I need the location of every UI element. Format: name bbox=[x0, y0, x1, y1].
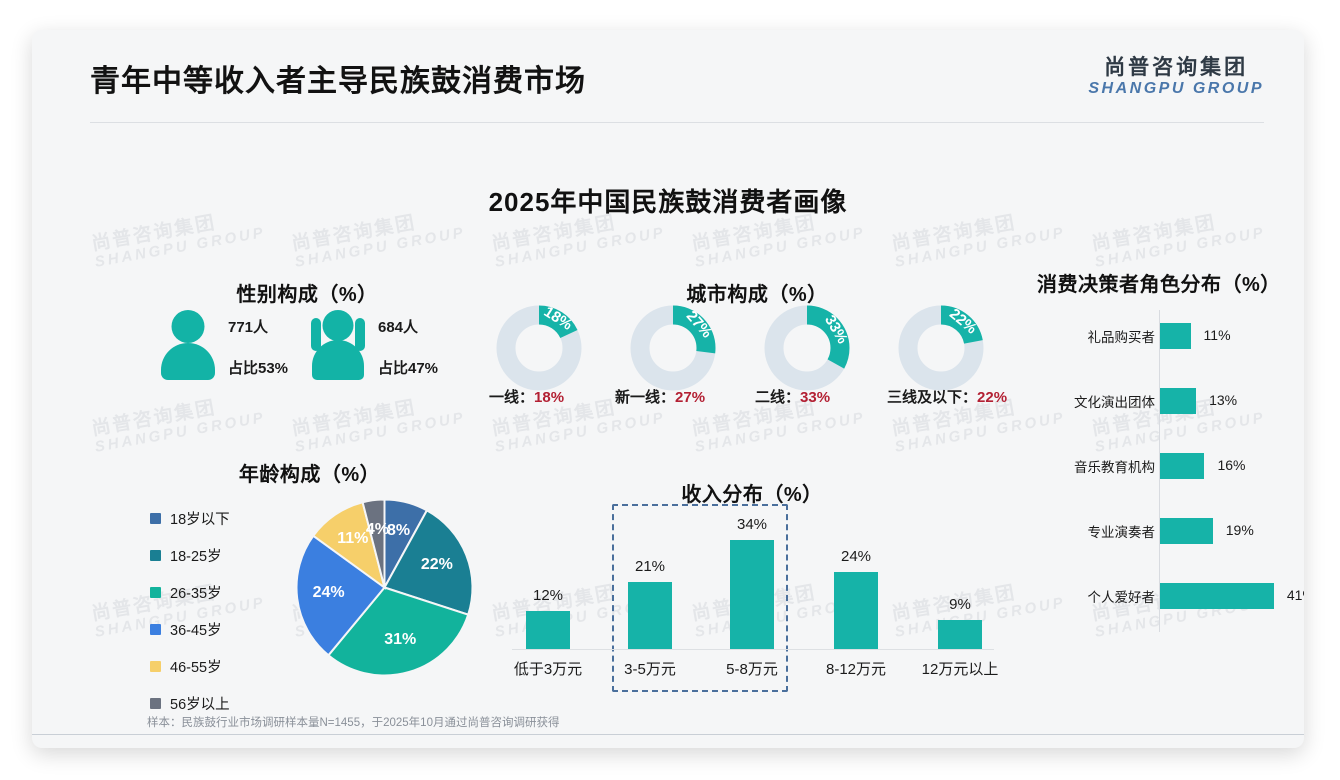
income-distribution-section: 12%21%34%24%9% 低于3万元3-5万元5-8万元8-12万元12万元… bbox=[502, 470, 1002, 695]
city-value-4: 22% bbox=[977, 389, 1007, 406]
role-label-2: 文化演出团体 bbox=[1074, 391, 1155, 411]
age-legend-item: 46-55岁 bbox=[150, 656, 230, 677]
income-bar-value-5: 9% bbox=[925, 596, 995, 613]
watermark: 尚普咨询集团SHANGPU GROUP bbox=[290, 390, 467, 455]
gender-item-male: 771人 占比53% bbox=[160, 310, 288, 380]
city-value-3: 33% bbox=[800, 389, 830, 406]
role-label-5: 个人爱好者 bbox=[1088, 586, 1156, 606]
income-category-1: 低于3万元 bbox=[496, 658, 600, 679]
city-value-1: 18% bbox=[534, 389, 564, 406]
role-row: 文化演出团体13% bbox=[1037, 388, 1304, 414]
female-share: 占比47% bbox=[378, 357, 438, 378]
income-category-2: 3-5万元 bbox=[598, 658, 702, 679]
city-donut-4: 22% bbox=[895, 302, 987, 394]
male-share: 占比53% bbox=[228, 357, 288, 378]
income-bar-5 bbox=[938, 620, 982, 649]
age-pie-chart: 8%22%31%24%11%4% bbox=[292, 495, 477, 680]
income-category-5: 12万元以上 bbox=[908, 658, 1012, 679]
role-value-2: 13% bbox=[1209, 392, 1237, 408]
legend-swatch bbox=[150, 513, 161, 524]
legend-label: 18-25岁 bbox=[170, 545, 222, 566]
legend-label: 56岁以上 bbox=[170, 693, 230, 714]
city-donut-1: 18% bbox=[493, 302, 585, 394]
logo-chinese-text: 尚普咨询集团 bbox=[1088, 56, 1264, 79]
brand-logo: 尚普咨询集团 SHANGPU GROUP bbox=[1088, 56, 1264, 99]
role-value-4: 19% bbox=[1226, 522, 1254, 538]
role-row: 礼品购买者11% bbox=[1037, 323, 1304, 349]
legend-swatch bbox=[150, 587, 161, 598]
age-legend-item: 36-45岁 bbox=[150, 619, 230, 640]
income-bar-value-1: 12% bbox=[513, 587, 583, 604]
city-caption-1: 一线：18% bbox=[489, 386, 564, 407]
income-baseline bbox=[512, 649, 994, 650]
header: 青年中等收入者主导民族鼓消费市场 尚普咨询集团 SHANGPU GROUP bbox=[32, 30, 1304, 126]
age-legend-item: 18-25岁 bbox=[150, 545, 230, 566]
age-legend: 18岁以下18-25岁26-35岁36-45岁46-55岁56岁以上 bbox=[150, 508, 230, 730]
legend-label: 18岁以下 bbox=[170, 508, 230, 529]
city-caption-3: 二线：33% bbox=[755, 386, 830, 407]
role-bar-3 bbox=[1160, 453, 1204, 479]
chart-subtitle: 2025年中国民族鼓消费者画像 bbox=[32, 182, 1304, 219]
female-count: 684人 bbox=[378, 316, 438, 337]
city-caption-2: 新一线：27% bbox=[615, 386, 705, 407]
role-label-1: 礼品购买者 bbox=[1088, 326, 1156, 346]
income-bar-2 bbox=[628, 582, 672, 649]
footer-divider bbox=[32, 734, 1304, 735]
age-composition-section: 18岁以下18-25岁26-35岁36-45岁46-55岁56岁以上 8%22%… bbox=[142, 450, 477, 690]
role-row: 个人爱好者41% bbox=[1037, 583, 1304, 609]
role-row: 专业演奏者19% bbox=[1037, 518, 1304, 544]
role-bar-1 bbox=[1160, 323, 1191, 349]
age-legend-item: 26-35岁 bbox=[150, 582, 230, 603]
role-row: 音乐教育机构16% bbox=[1037, 453, 1304, 479]
city-caption-4: 三线及以下：22% bbox=[887, 386, 1007, 407]
city-donut-3: 33% bbox=[761, 302, 853, 394]
income-category-4: 8-12万元 bbox=[804, 658, 908, 679]
footer-website: www.shangpu-china.com bbox=[1131, 746, 1264, 748]
footer-copyright: ©2025.12 SHANGPU GROUP bbox=[72, 746, 234, 748]
header-divider bbox=[90, 122, 1264, 123]
role-value-1: 11% bbox=[1204, 327, 1231, 343]
role-label-3: 音乐教育机构 bbox=[1074, 456, 1155, 476]
gender-item-female: 684人 占比47% bbox=[310, 310, 438, 380]
income-bar-4 bbox=[834, 572, 878, 649]
city-value-2: 27% bbox=[675, 389, 705, 406]
income-category-3: 5-8万元 bbox=[700, 658, 804, 679]
legend-label: 36-45岁 bbox=[170, 619, 222, 640]
income-plot: 12%21%34%24%9% bbox=[502, 515, 1002, 650]
role-bar-2 bbox=[1160, 388, 1196, 414]
male-count: 771人 bbox=[228, 316, 288, 337]
city-label-2: 新一线： bbox=[615, 389, 675, 406]
role-bar-5 bbox=[1160, 583, 1274, 609]
legend-swatch bbox=[150, 698, 161, 709]
role-label-4: 专业演奏者 bbox=[1088, 521, 1156, 541]
female-person-icon bbox=[310, 310, 366, 380]
watermark: 尚普咨询集团SHANGPU GROUP bbox=[90, 390, 267, 455]
income-bar-3 bbox=[730, 540, 774, 649]
city-label-1: 一线： bbox=[489, 389, 534, 406]
city-label-4: 三线及以下： bbox=[887, 389, 977, 406]
male-person-icon bbox=[160, 310, 216, 380]
income-bar-value-4: 24% bbox=[821, 548, 891, 565]
legend-label: 26-35岁 bbox=[170, 582, 222, 603]
income-bar-value-3: 34% bbox=[717, 516, 787, 533]
role-value-3: 16% bbox=[1217, 457, 1245, 473]
city-donut-2: 27% bbox=[627, 302, 719, 394]
income-bar-value-2: 21% bbox=[615, 558, 685, 575]
gender-composition-section: 771人 占比53% 684人 占比47% bbox=[142, 270, 472, 395]
decision-maker-roles-section: 礼品购买者11%文化演出团体13%音乐教育机构16%专业演奏者19%个人爱好者4… bbox=[1037, 268, 1304, 638]
legend-swatch bbox=[150, 550, 161, 561]
sample-footnote: 样本：民族鼓行业市场调研样本量N=1455，于2025年10月通过尚普咨询调研获… bbox=[147, 714, 559, 730]
legend-swatch bbox=[150, 624, 161, 635]
infographic-card: 尚普咨询集团SHANGPU GROUP尚普咨询集团SHANGPU GROUP尚普… bbox=[32, 30, 1304, 748]
role-bar-4 bbox=[1160, 518, 1213, 544]
logo-english-text: SHANGPU GROUP bbox=[1088, 79, 1264, 99]
legend-swatch bbox=[150, 661, 161, 672]
income-bar-1 bbox=[526, 611, 570, 649]
city-composition-section: 18%一线：18%27%新一线：27%33%二线：33%22%三线及以下：22% bbox=[487, 268, 1027, 413]
page-title: 青年中等收入者主导民族鼓消费市场 bbox=[90, 56, 586, 100]
age-legend-item: 56岁以上 bbox=[150, 693, 230, 714]
legend-label: 46-55岁 bbox=[170, 656, 222, 677]
role-value-5: 41% bbox=[1287, 587, 1304, 603]
age-legend-item: 18岁以下 bbox=[150, 508, 230, 529]
city-label-3: 二线： bbox=[755, 389, 800, 406]
